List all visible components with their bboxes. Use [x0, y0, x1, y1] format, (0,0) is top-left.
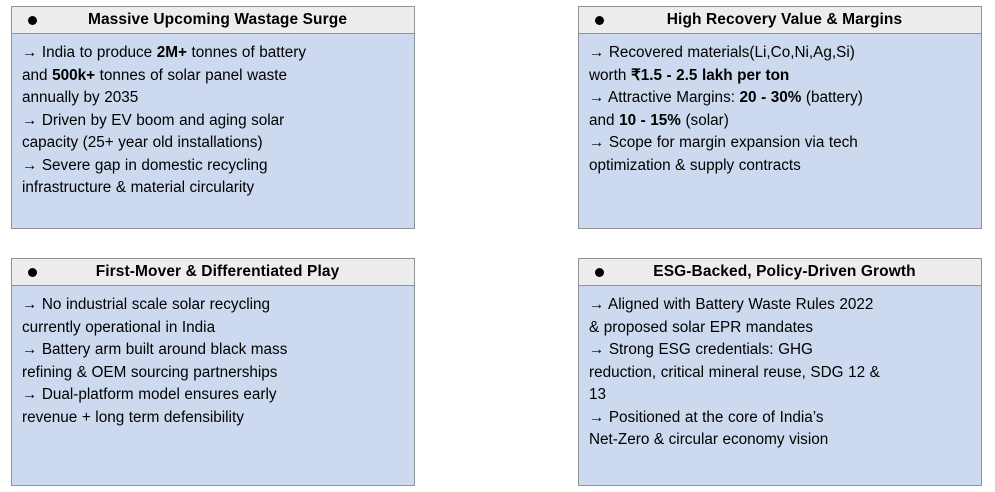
bullet-emphasis: 2M+ [157, 44, 187, 61]
bullet-text: optimization & supply contracts [589, 157, 801, 174]
bullet-text: → Aligned with Battery Waste Rules 2022 [589, 296, 873, 313]
bullet-line: → Battery arm built around black mass [22, 339, 404, 361]
bullet-text: tonnes of solar panel waste [95, 67, 287, 84]
card-body: → India to produce 2M+ tonnes of battery… [11, 34, 415, 229]
bullet-text: → Positioned at the core of India’s [589, 409, 824, 426]
card-header: Massive Upcoming Wastage Surge [11, 6, 415, 34]
bullet-line: → No industrial scale solar recycling [22, 294, 404, 316]
bullet-emphasis: 500k+ [52, 67, 95, 84]
bullet-line: → Dual-platform model ensures early [22, 384, 404, 406]
card-title: ESG-Backed, Policy-Driven Growth [612, 263, 973, 281]
bullet-text: (solar) [681, 112, 729, 129]
bullet-text: infrastructure & material circularity [22, 179, 254, 196]
bullet-line: optimization & supply contracts [589, 155, 971, 177]
bullet-text: → Battery arm built around black mass [22, 341, 287, 358]
bullet-line: infrastructure & material circularity [22, 177, 404, 199]
card-esg-backed-policy-driven-growth: ESG-Backed, Policy-Driven Growth → Align… [578, 258, 982, 486]
bullet-line: refining & OEM sourcing partnerships [22, 362, 404, 384]
bullet-text: (battery) [801, 89, 863, 106]
bullet-text: currently operational in India [22, 319, 215, 336]
card-header: ESG-Backed, Policy-Driven Growth [578, 258, 982, 286]
card-title: First-Mover & Differentiated Play [45, 263, 406, 281]
bullet-line: → Attractive Margins: 20 - 30% (battery) [589, 87, 971, 109]
bullet-line: → Aligned with Battery Waste Rules 2022 [589, 294, 971, 316]
card-high-recovery-value-and-margins: High Recovery Value & Margins → Recovere… [578, 6, 982, 229]
bullet-line: → Driven by EV boom and aging solar [22, 110, 404, 132]
bullet-line: → Scope for margin expansion via tech [589, 132, 971, 154]
bullet-text: → India to produce [22, 44, 157, 61]
bullet-text: → No industrial scale solar recycling [22, 296, 270, 313]
card-first-mover-and-differentiated-play: First-Mover & Differentiated Play → No i… [11, 258, 415, 486]
bullet-line: 13 [589, 384, 971, 406]
bullet-text: and [22, 67, 52, 84]
bullet-text: worth [589, 67, 631, 84]
bullet-line: and 10 - 15% (solar) [589, 110, 971, 132]
card-massive-upcoming-wastage-surge: Massive Upcoming Wastage Surge → India t… [11, 6, 415, 229]
bullet-line: worth ₹1.5 - 2.5 lakh per ton [589, 65, 971, 87]
bullet-text: and [589, 112, 619, 129]
bullet-emphasis: ₹1.5 - 2.5 lakh per ton [631, 67, 789, 84]
bullet-line: and 500k+ tonnes of solar panel waste [22, 65, 404, 87]
bullet-text: capacity (25+ year old installations) [22, 134, 263, 151]
bullet-text: & proposed solar EPR mandates [589, 319, 813, 336]
filled-circle-icon [595, 16, 604, 25]
bullet-line: → Strong ESG credentials: GHG [589, 339, 971, 361]
bullet-text: → Recovered materials(Li,Co,Ni,Ag,Si) [589, 44, 855, 61]
card-title: High Recovery Value & Margins [612, 11, 973, 29]
card-title: Massive Upcoming Wastage Surge [45, 11, 406, 29]
bullet-text: → Severe gap in domestic recycling [22, 157, 268, 174]
bullet-line: capacity (25+ year old installations) [22, 132, 404, 154]
card-body: → Aligned with Battery Waste Rules 2022&… [578, 286, 982, 486]
bullet-line: & proposed solar EPR mandates [589, 317, 971, 339]
card-header: High Recovery Value & Margins [578, 6, 982, 34]
slide-canvas: Massive Upcoming Wastage Surge → India t… [0, 0, 995, 492]
bullet-text: Net-Zero & circular economy vision [589, 431, 828, 448]
bullet-text: revenue + long term defensibility [22, 409, 244, 426]
filled-circle-icon [28, 16, 37, 25]
bullet-text: → Driven by EV boom and aging solar [22, 112, 284, 129]
filled-circle-icon [28, 268, 37, 277]
bullet-line: reduction, critical mineral reuse, SDG 1… [589, 362, 971, 384]
bullet-emphasis: 20 - 30% [740, 89, 802, 106]
bullet-text: → Dual-platform model ensures early [22, 386, 277, 403]
bullet-text: 13 [589, 386, 606, 403]
card-body: → Recovered materials(Li,Co,Ni,Ag,Si)wor… [578, 34, 982, 229]
bullet-emphasis: 10 - 15% [619, 112, 681, 129]
card-body: → No industrial scale solar recyclingcur… [11, 286, 415, 486]
bullet-line: revenue + long term defensibility [22, 407, 404, 429]
bullet-text: → Attractive Margins: [589, 89, 740, 106]
bullet-text: reduction, critical mineral reuse, SDG 1… [589, 364, 880, 381]
bullet-text: tonnes of battery [187, 44, 306, 61]
bullet-text: → Strong ESG credentials: GHG [589, 341, 813, 358]
bullet-line: → Positioned at the core of India’s [589, 407, 971, 429]
filled-circle-icon [595, 268, 604, 277]
bullet-text: → Scope for margin expansion via tech [589, 134, 858, 151]
bullet-line: currently operational in India [22, 317, 404, 339]
bullet-line: Net-Zero & circular economy vision [589, 429, 971, 451]
bullet-line: annually by 2035 [22, 87, 404, 109]
bullet-line: → Recovered materials(Li,Co,Ni,Ag,Si) [589, 42, 971, 64]
bullet-line: → India to produce 2M+ tonnes of battery [22, 42, 404, 64]
card-header: First-Mover & Differentiated Play [11, 258, 415, 286]
bullet-text: annually by 2035 [22, 89, 138, 106]
bullet-text: refining & OEM sourcing partnerships [22, 364, 277, 381]
bullet-line: → Severe gap in domestic recycling [22, 155, 404, 177]
